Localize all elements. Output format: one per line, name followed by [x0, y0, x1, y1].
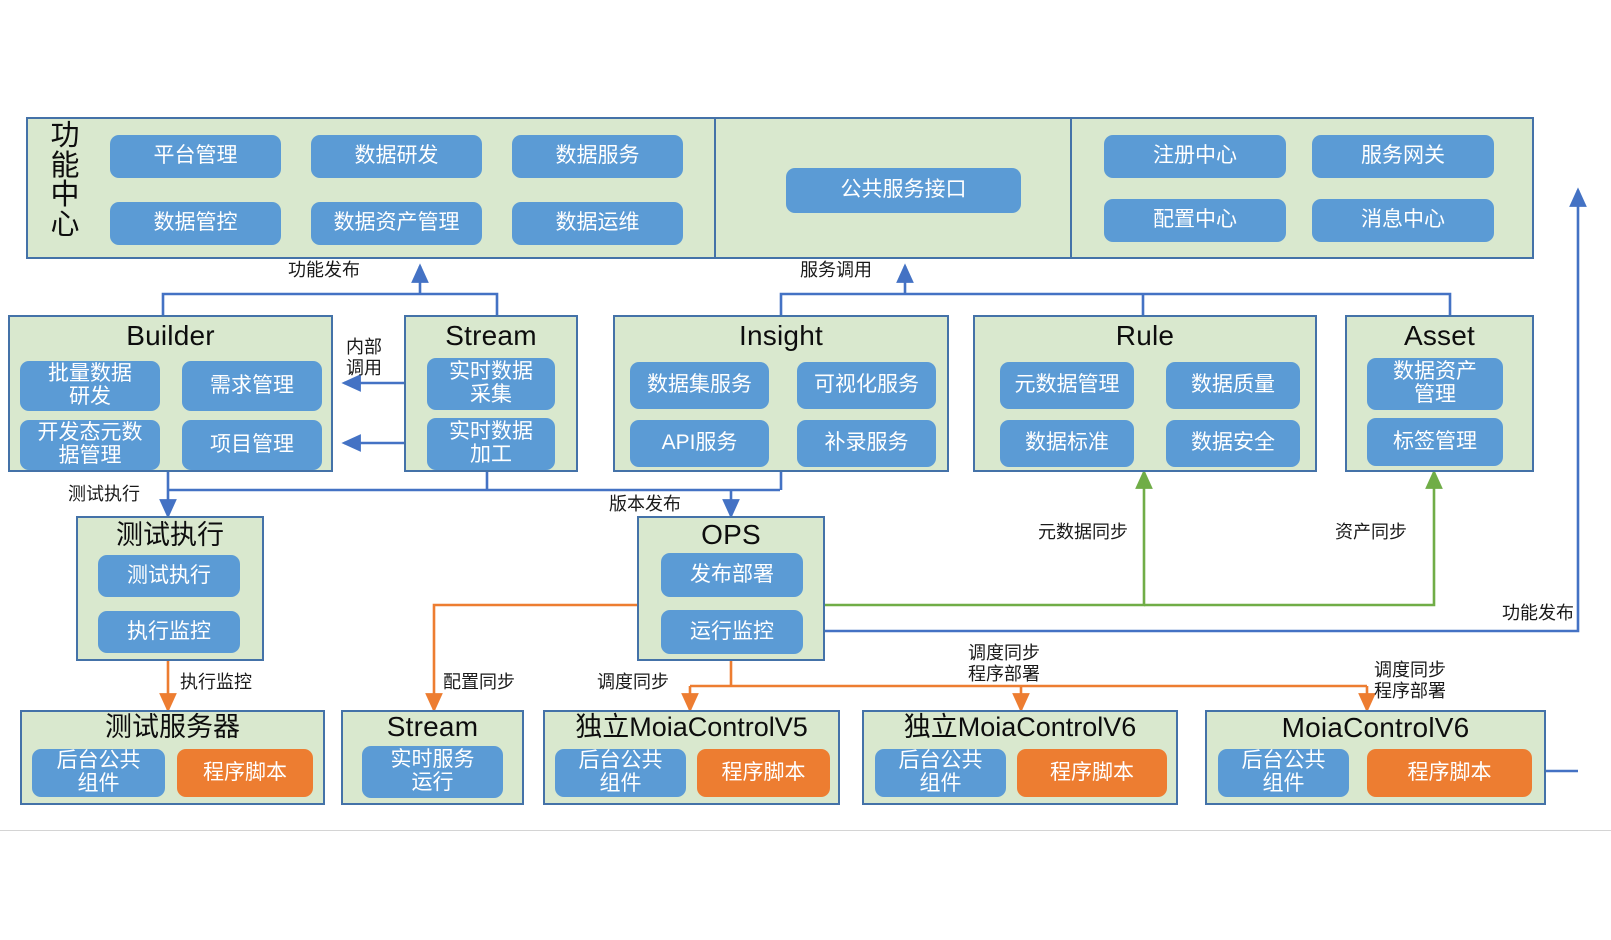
- chip-visualization-service[interactable]: 可视化服务: [797, 362, 936, 409]
- chip-data-ops[interactable]: 数据运维: [512, 202, 683, 245]
- band-divider-2: [1070, 119, 1072, 257]
- chip-realtime-process[interactable]: 实时数据加工: [427, 418, 555, 470]
- label-internal-call: 内部调用: [340, 337, 388, 379]
- chip-api-service[interactable]: API服务: [630, 420, 769, 467]
- chip-data-asset-management[interactable]: 数据资产管理: [311, 202, 482, 245]
- chip-metadata-mgmt[interactable]: 元数据管理: [1000, 362, 1134, 409]
- panel-asset-title: Asset: [1347, 321, 1532, 350]
- chip-data-governance[interactable]: 数据管控: [110, 202, 281, 245]
- chip-test-run[interactable]: 测试执行: [98, 555, 240, 597]
- label-feature-publish-right: 功能发布: [1462, 603, 1574, 624]
- band-divider-1: [714, 119, 716, 257]
- panel-insight-title: Insight: [615, 321, 947, 350]
- chip-platform-management[interactable]: 平台管理: [110, 135, 281, 178]
- deploy-title-test-server: 测试服务器: [22, 713, 323, 741]
- chip-exec-monitor[interactable]: 执行监控: [98, 611, 240, 653]
- chip-program-script-1[interactable]: 程序脚本: [177, 749, 313, 797]
- label-metadata-sync: 元数据同步: [1038, 522, 1128, 543]
- label-schedule-sync: 调度同步: [597, 672, 669, 693]
- function-center-label: 功能中心: [42, 122, 88, 240]
- label-asset-sync: 资产同步: [1335, 522, 1407, 543]
- panel-stream-title: Stream: [406, 321, 576, 350]
- label-schedule-deploy-right: 调度同步程序部署: [1374, 660, 1446, 702]
- deploy-title-moiacontrol-v6-standalone: 独立MoiaControlV6: [864, 713, 1176, 741]
- chip-backend-common-3[interactable]: 后台公共组件: [875, 749, 1006, 797]
- chip-data-security[interactable]: 数据安全: [1166, 420, 1300, 467]
- label-schedule-deploy-mid: 调度同步程序部署: [968, 643, 1040, 685]
- label-service-call: 服务调用: [800, 260, 872, 281]
- chip-data-standard[interactable]: 数据标准: [1000, 420, 1134, 467]
- architecture-diagram: 功能中心 平台管理 数据研发 数据服务 数据管控 数据资产管理 数据运维 公共服…: [0, 0, 1611, 940]
- deploy-title-stream: Stream: [343, 712, 522, 741]
- chip-backend-common-4[interactable]: 后台公共组件: [1218, 749, 1349, 797]
- panel-test-execution-title: 测试执行: [78, 521, 262, 549]
- chip-runtime-monitor[interactable]: 运行监控: [661, 610, 803, 654]
- chip-data-service[interactable]: 数据服务: [512, 135, 683, 178]
- chip-realtime-service-run[interactable]: 实时服务运行: [362, 746, 503, 798]
- chip-realtime-collect[interactable]: 实时数据采集: [427, 358, 555, 410]
- chip-program-script-3[interactable]: 程序脚本: [1017, 749, 1167, 797]
- label-exec-monitor: 执行监控: [180, 672, 252, 693]
- chip-release-deploy[interactable]: 发布部署: [661, 553, 803, 597]
- chip-dev-metadata-mgmt[interactable]: 开发态元数据管理: [20, 420, 160, 470]
- chip-program-script-4[interactable]: 程序脚本: [1367, 749, 1532, 797]
- panel-ops-title: OPS: [639, 520, 823, 549]
- chip-backend-common-1[interactable]: 后台公共组件: [32, 749, 165, 797]
- chip-supplement-service[interactable]: 补录服务: [797, 420, 936, 467]
- bottom-divider-rule: [0, 830, 1611, 831]
- label-feature-publish-top: 功能发布: [288, 260, 360, 281]
- label-version-publish: 版本发布: [609, 494, 681, 515]
- chip-data-quality[interactable]: 数据质量: [1166, 362, 1300, 409]
- chip-dataset-service[interactable]: 数据集服务: [630, 362, 769, 409]
- chip-tag-mgmt[interactable]: 标签管理: [1367, 418, 1503, 466]
- label-test-exec: 测试执行: [68, 484, 140, 505]
- chip-backend-common-2[interactable]: 后台公共组件: [555, 749, 686, 797]
- chip-project-mgmt[interactable]: 项目管理: [182, 420, 322, 470]
- deploy-title-moiacontrol-v6: MoiaControlV6: [1207, 713, 1544, 742]
- label-config-sync: 配置同步: [443, 672, 515, 693]
- chip-requirement-mgmt[interactable]: 需求管理: [182, 361, 322, 411]
- panel-builder-title: Builder: [10, 321, 331, 350]
- chip-data-development[interactable]: 数据研发: [311, 135, 482, 178]
- chip-service-gateway[interactable]: 服务网关: [1312, 135, 1494, 178]
- chip-public-service-interface[interactable]: 公共服务接口: [786, 168, 1021, 213]
- chip-config-center[interactable]: 配置中心: [1104, 199, 1286, 242]
- chip-program-script-2[interactable]: 程序脚本: [697, 749, 830, 797]
- chip-registry-center[interactable]: 注册中心: [1104, 135, 1286, 178]
- chip-asset-data-mgmt[interactable]: 数据资产管理: [1367, 358, 1503, 410]
- panel-rule-title: Rule: [975, 321, 1315, 350]
- deploy-title-moiacontrol-v5: 独立MoiaControlV5: [545, 713, 838, 741]
- chip-batch-data-dev[interactable]: 批量数据研发: [20, 361, 160, 411]
- chip-message-center[interactable]: 消息中心: [1312, 199, 1494, 242]
